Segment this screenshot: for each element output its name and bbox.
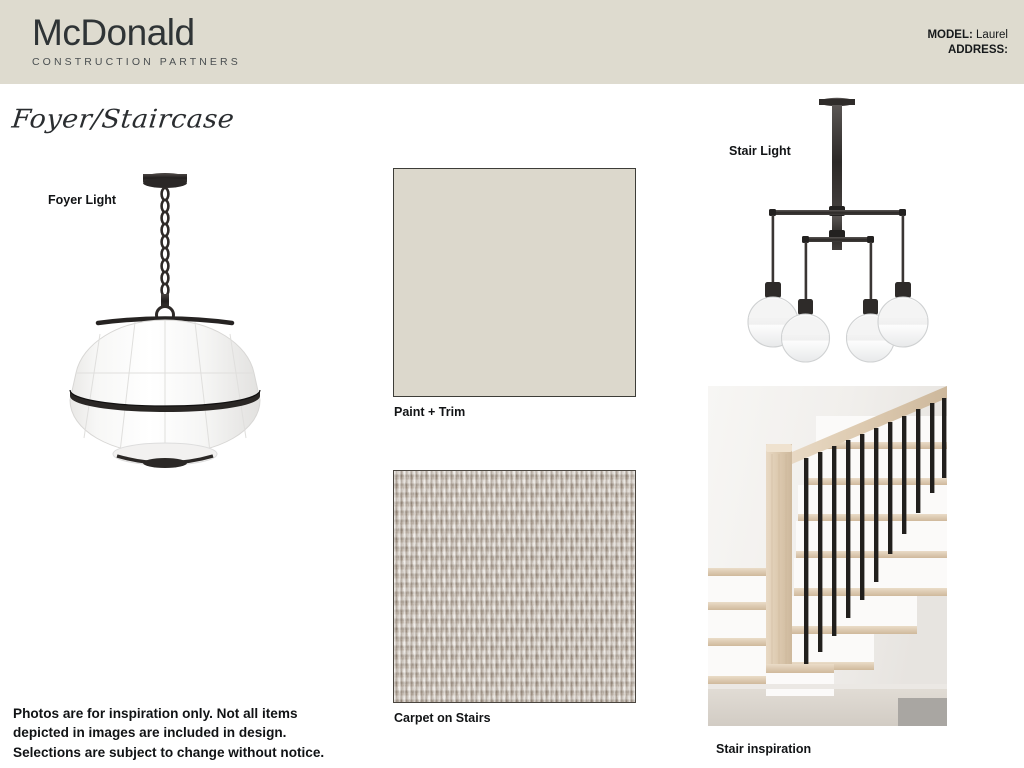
brand-logo: McDonald CONSTRUCTION PARTNERS: [32, 14, 241, 68]
staircase-photo-illustration: [708, 386, 947, 726]
disclaimer-line-2: depicted in images are included in desig…: [13, 723, 363, 742]
carpet-texture: [394, 471, 635, 702]
disclaimer-line-3: Selections are subject to change without…: [13, 743, 363, 762]
stair-inspiration-caption: Stair inspiration: [716, 742, 811, 756]
foyer-light-caption: Foyer Light: [48, 193, 116, 207]
model-row: MODEL: Laurel: [927, 28, 1008, 43]
header-project-meta: MODEL: Laurel ADDRESS:: [927, 28, 1008, 58]
disclaimer-text: Photos are for inspiration only. Not all…: [13, 704, 363, 762]
address-row: ADDRESS:: [927, 43, 1008, 58]
brand-tagline: CONSTRUCTION PARTNERS: [32, 56, 241, 68]
paint-caption: Paint + Trim: [394, 405, 465, 419]
brand-name: McDonald: [32, 14, 241, 53]
foyer-light-image: [40, 168, 290, 488]
four-globe-chandelier-icon: [740, 90, 950, 380]
stair-inspiration-image: [708, 386, 947, 726]
stair-light-image: [740, 90, 950, 380]
pendant-globe-light-icon: [40, 168, 290, 488]
model-label: MODEL:: [927, 29, 972, 41]
model-value: Laurel: [973, 29, 1008, 41]
carpet-caption: Carpet on Stairs: [394, 711, 491, 725]
header-band: McDonald CONSTRUCTION PARTNERS MODEL: La…: [0, 0, 1024, 84]
page-title: Foyer/Staircase: [10, 105, 235, 134]
stair-light-caption: Stair Light: [729, 144, 791, 158]
carpet-swatch: [393, 470, 636, 703]
paint-swatch: [393, 168, 636, 397]
address-label: ADDRESS:: [948, 44, 1008, 56]
disclaimer-line-1: Photos are for inspiration only. Not all…: [13, 704, 363, 723]
